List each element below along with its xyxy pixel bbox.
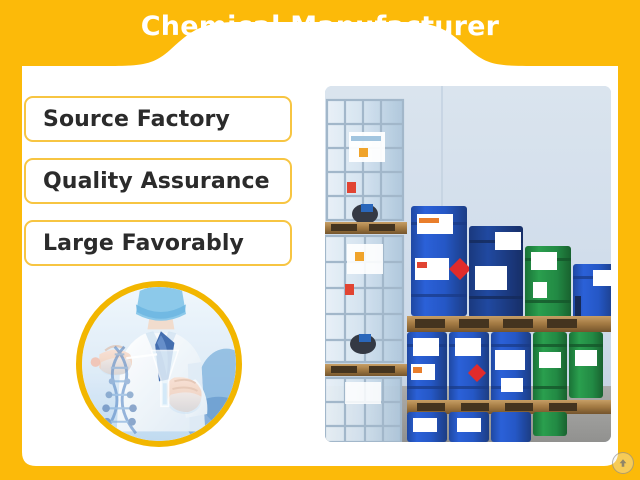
page-title: Chemical Manufacturer xyxy=(0,10,640,44)
feature-pill-large-favorably[interactable]: Large Favorably xyxy=(24,220,292,266)
feature-pill-label: Large Favorably xyxy=(43,231,244,256)
poster-root: Chemical Manufacturer Source Factory Qua… xyxy=(0,0,640,480)
feature-pill-quality-assurance[interactable]: Quality Assurance xyxy=(24,158,292,204)
up-arrow-icon xyxy=(617,457,629,469)
feature-pill-source-factory[interactable]: Source Factory xyxy=(24,96,292,142)
upload-arrow-badge-icon xyxy=(612,452,634,474)
chemical-drums-photo xyxy=(325,86,611,442)
feature-pill-label: Source Factory xyxy=(43,107,230,132)
feature-pill-label: Quality Assurance xyxy=(43,169,270,194)
chemical-drums-warehouse-photo xyxy=(325,86,611,442)
lab-scientist-photo xyxy=(82,287,236,441)
lab-scientist-badge xyxy=(76,281,242,447)
